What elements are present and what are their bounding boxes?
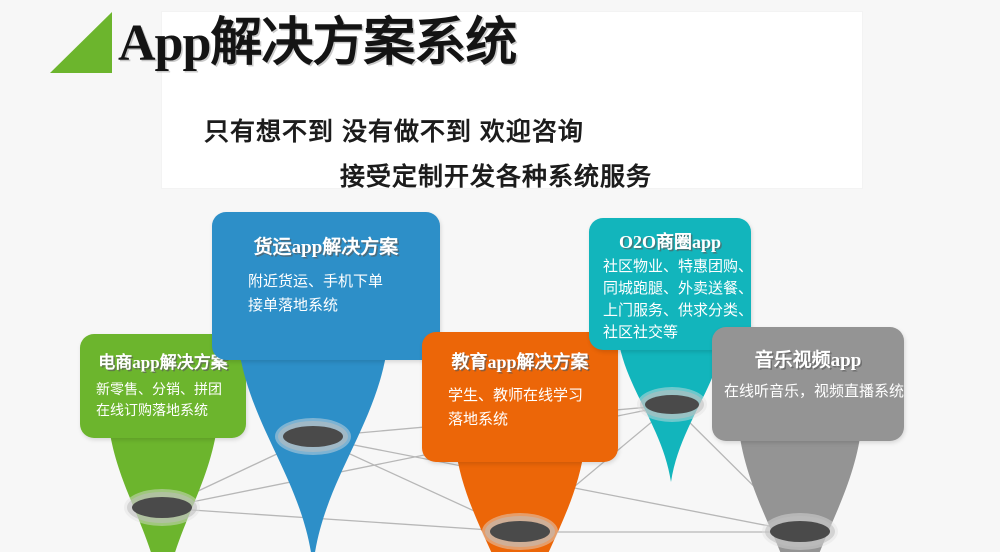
- pin-base-ecommerce: [132, 497, 192, 518]
- pin-body-line: 在线订购落地系统: [96, 400, 222, 421]
- pin-tail-icon: [238, 342, 388, 552]
- pin-bubble-freight: 货运app解决方案 附近货运、手机下单 接单落地系统: [212, 212, 440, 360]
- pin-body-line: 同城跑腿、外卖送餐、: [603, 278, 753, 300]
- pin-base-freight: [283, 426, 343, 447]
- pin-body-ecommerce: 新零售、分销、拼团 在线订购落地系统: [96, 379, 222, 421]
- pin-tail-icon: [108, 420, 218, 552]
- pin-body-line: 在线听音乐，视频直播系统: [724, 381, 904, 402]
- pin-body-media: 在线听音乐，视频直播系统: [724, 381, 904, 402]
- pin-title-o2o: O2O商圈app: [589, 228, 751, 254]
- pin-bubble-education: 教育app解决方案 学生、教师在线学习 落地系统: [422, 332, 618, 462]
- pin-body-freight: 附近货运、手机下单 接单落地系统: [248, 270, 383, 318]
- pin-body-education: 学生、教师在线学习 落地系统: [448, 384, 583, 432]
- pin-title-education: 教育app解决方案: [422, 348, 618, 374]
- pin-title-freight: 货运app解决方案: [212, 232, 440, 259]
- slide-canvas: App解决方案系统 只有想不到 没有做不到 欢迎咨询 接受定制开发各种系统服务 …: [0, 0, 1000, 552]
- pin-body-line: 接单落地系统: [248, 294, 383, 318]
- pin-title-media: 音乐视频app: [712, 345, 904, 372]
- pin-body-line: 附近货运、手机下单: [248, 270, 383, 294]
- pin-body-line: 上门服务、供求分类、: [603, 300, 753, 322]
- pin-body-line: 社区物业、特惠团购、: [603, 256, 753, 278]
- pin-base-media: [770, 521, 830, 542]
- pin-body-line: 新零售、分销、拼团: [96, 379, 222, 400]
- pin-bubble-media: 音乐视频app 在线听音乐，视频直播系统: [712, 327, 904, 441]
- pin-base-education: [490, 521, 550, 542]
- pin-body-line: 学生、教师在线学习: [448, 384, 583, 408]
- pin-body-line: 落地系统: [448, 408, 583, 432]
- pin-base-o2o: [645, 395, 699, 414]
